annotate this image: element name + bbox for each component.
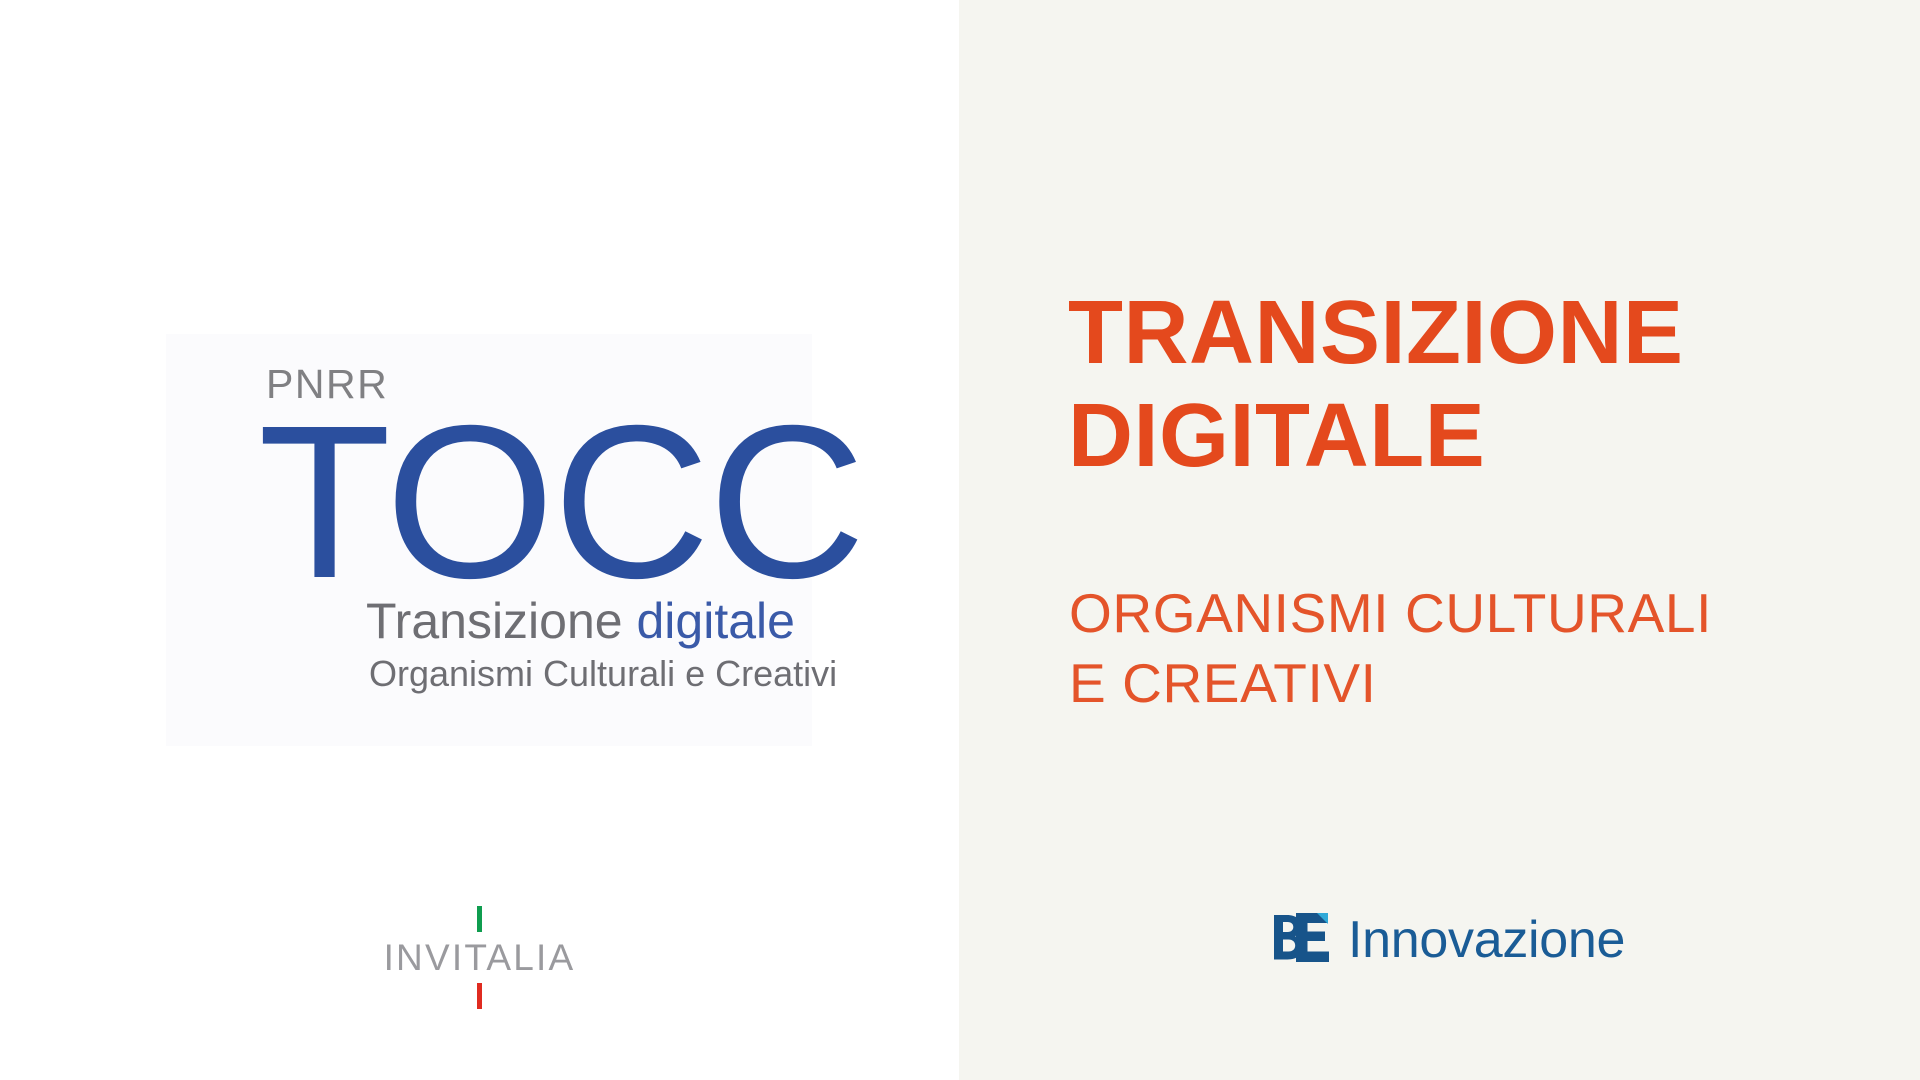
invitalia-logo: INVITALIA bbox=[0, 892, 959, 1022]
invitalia-red-tick-icon bbox=[477, 983, 482, 1009]
slide-root: PNRR TOCC Transizione digitale Organismi… bbox=[0, 0, 1920, 1080]
page-title: TRANSIZIONE DIGITALE bbox=[1068, 282, 1684, 487]
left-panel: PNRR TOCC Transizione digitale Organismi… bbox=[0, 0, 959, 1080]
tocc-logo-image: PNRR TOCC Transizione digitale Organismi… bbox=[166, 334, 812, 746]
page-subtitle: ORGANISMI CULTURALI E CREATIVI bbox=[1069, 578, 1712, 719]
be-innovazione-wordmark: Innovazione bbox=[1348, 914, 1625, 966]
invitalia-green-tick-icon bbox=[477, 906, 482, 932]
tocc-logo-subtitle: Organismi Culturali e Creativi bbox=[369, 656, 837, 692]
tocc-tagline-transizione: Transizione bbox=[366, 593, 623, 649]
tocc-logo-inner: PNRR TOCC Transizione digitale Organismi… bbox=[214, 364, 774, 724]
invitalia-wordmark: INVITALIA bbox=[384, 939, 576, 976]
tocc-logo-tagline: Transizione digitale bbox=[366, 596, 795, 646]
be-monogram-icon bbox=[1272, 909, 1334, 971]
tocc-tagline-digitale: digitale bbox=[623, 593, 795, 649]
tocc-logo-acronym: TOCC bbox=[258, 394, 864, 612]
be-innovazione-logo: Innovazione bbox=[1272, 900, 1625, 980]
